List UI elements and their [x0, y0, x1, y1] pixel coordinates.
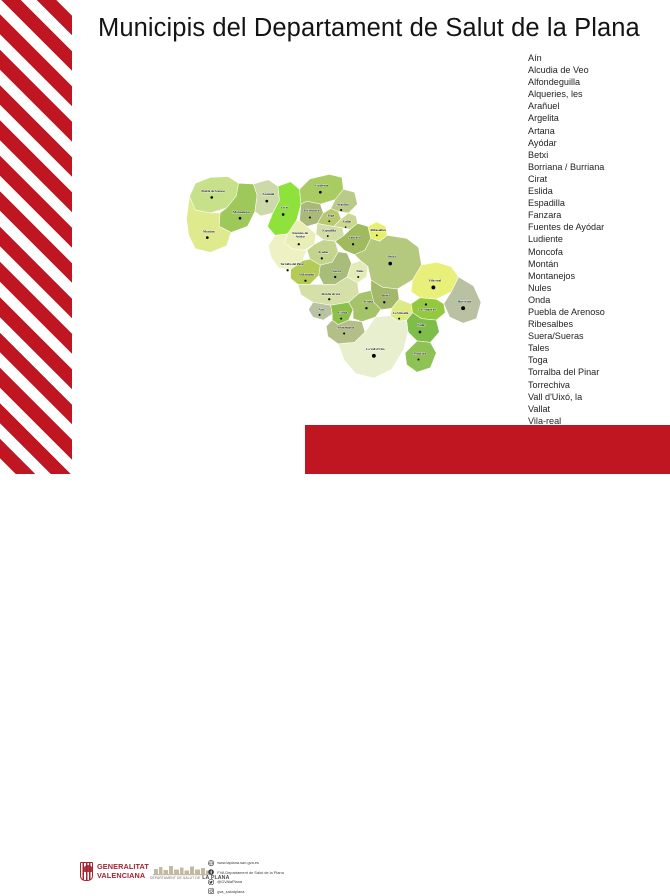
municipality-list-item: Ludiente [528, 233, 666, 245]
map-label: Espadilla [322, 229, 336, 233]
municipality-list-item: Puebla de Arenoso [528, 306, 666, 318]
map-container: Puebla de ArenosoMontanejosMontánArañuel… [96, 100, 506, 390]
map-label: Vila-real [429, 278, 442, 282]
map-city-dot [206, 236, 209, 239]
municipality-list-item: Montán [528, 258, 666, 270]
map-city-dot [309, 216, 311, 218]
map-city-dot [239, 217, 242, 220]
map-city-dot [419, 331, 422, 334]
map-city-dot [365, 307, 367, 309]
map-city-dot [210, 196, 213, 199]
map-label: Les Alqueries [419, 307, 437, 311]
map-label: Onda [388, 255, 396, 259]
map-label: Fanzara [348, 235, 360, 239]
map-label: Ludiente [315, 183, 329, 187]
social-link-text: @GVAlaPlana [217, 879, 242, 884]
map-city-dot [345, 226, 347, 228]
map-label: Torralba del Pinar [280, 262, 304, 266]
globe-icon [208, 860, 214, 866]
map-label: Suera [332, 269, 341, 273]
map-label: Tales [356, 269, 364, 273]
municipality-list-item: Alqueries, les [528, 88, 666, 100]
generalitat-valenciana-logo: GENERALITAT VALENCIANA [80, 862, 149, 881]
social-link-row[interactable]: gva_saludplana [208, 887, 284, 896]
generalitat-logo-line2: VALENCIANA [97, 872, 149, 880]
map-label: Villamalur [299, 272, 315, 276]
generalitat-logo-text: GENERALITAT VALENCIANA [97, 863, 149, 880]
map-city-dot [425, 303, 427, 305]
map-city-dot [319, 191, 322, 194]
decorative-stripe-band [0, 0, 72, 474]
municipality-list-item: Betxi [528, 149, 666, 161]
social-link-text: FVA Departament de Salut de la Plana [217, 870, 284, 875]
social-link-text: gva_saludplana [217, 889, 244, 894]
map-label: Betxi [382, 293, 390, 297]
map-city-dot [298, 243, 300, 245]
page-title: Municipis del Departament de Salut de la… [98, 14, 658, 43]
map-city-dot [328, 220, 330, 222]
municipality-list-item: Ayódar [528, 137, 666, 149]
social-link-row[interactable]: @GVAlaPlana [208, 877, 284, 887]
map-city-dot [304, 280, 306, 282]
map-city-dot [357, 276, 359, 278]
slide-canvas: Municipis del Departament de Salut de la… [0, 0, 670, 474]
social-links: www.laplana.san.gva.esFVA Departament de… [208, 858, 284, 896]
map-city-dot [287, 269, 289, 271]
map-label: La Vilavella [393, 311, 409, 315]
map-label: Toga [327, 214, 334, 218]
map-label: Puebla de Arenoso [201, 189, 225, 193]
social-link-row[interactable]: FVA Departament de Salut de la Plana [208, 868, 284, 878]
map-city-dot [334, 276, 336, 278]
map-city-dot [321, 257, 323, 259]
map-label: Ribesalbes [371, 228, 387, 232]
map-city-dot [461, 306, 465, 310]
municipality-list: AínAlcudia de VeoAlfondeguillaAlqueries,… [528, 52, 666, 451]
social-link-text: www.laplana.san.gva.es [217, 860, 259, 865]
map-city-dot [340, 318, 342, 320]
map-city-dot [388, 262, 392, 266]
map-label: Arañuel [262, 192, 274, 196]
map-label: Artana [363, 299, 374, 303]
municipality-list-item: Nules [528, 282, 666, 294]
map-city-dot [383, 301, 385, 303]
map-label: Eslida [338, 310, 347, 314]
map-label: Moncofa [414, 351, 427, 355]
facebook-icon [208, 869, 214, 875]
map-label: Vallat [343, 220, 352, 224]
map-city-dot [343, 332, 345, 334]
municipality-list-item: Argelita [528, 112, 666, 124]
map-city-dot [431, 285, 435, 289]
map-label: La Vall d'Uixó [366, 347, 385, 351]
municipality-list-item: Moncofa [528, 246, 666, 258]
twitter-icon [208, 879, 214, 885]
municipality-list-item: Tales [528, 342, 666, 354]
municipality-list-item: Vallat [528, 403, 666, 415]
map-city-dot [265, 200, 268, 203]
la-plana-logo: DEPARTAMENT DE SALUT DE LA PLANA [150, 863, 212, 881]
municipality-list-item: Cirat [528, 173, 666, 185]
map-city-dot [327, 235, 329, 237]
social-link-row[interactable]: www.laplana.san.gva.es [208, 858, 284, 868]
municipality-list-item: Aín [528, 52, 666, 64]
map-label: Nules [417, 323, 426, 327]
map-region-moncofa[interactable] [405, 341, 436, 372]
municipality-list-item: Vall d'Uixó, la [528, 391, 666, 403]
map-label: Montán [203, 229, 215, 233]
footer: GENERALITAT VALENCIANA DEPARTAMENT DE SA… [0, 425, 670, 474]
map-city-dot [340, 209, 342, 211]
municipality-list-item: Arañuel [528, 100, 666, 112]
municipality-list-item: Eslida [528, 185, 666, 197]
municipality-list-item: Ribesalbes [528, 318, 666, 330]
municipality-list-item: Torrechiva [528, 379, 666, 391]
instagram-icon [208, 888, 214, 894]
map-label: Argelita [337, 203, 349, 207]
map-city-dot [328, 298, 330, 300]
map-label: Alcudia de Veo [321, 292, 340, 296]
map-city-dot [319, 314, 321, 316]
municipality-list-item: Montanejos [528, 270, 666, 282]
municipality-list-item: Fuentes de Ayódar [528, 221, 666, 233]
municipality-list-item: Onda [528, 294, 666, 306]
map-svg: Puebla de ArenosoMontanejosMontánArañuel… [96, 100, 506, 390]
map-city-dot [372, 354, 376, 358]
map-label: Cirat [281, 206, 290, 210]
municipality-list-item: Alcudia de Veo [528, 64, 666, 76]
map-city-dot [352, 243, 354, 245]
municipality-list-item: Suera/Sueras [528, 330, 666, 342]
map-city-dot [376, 234, 378, 236]
municipality-list-item: Toga [528, 354, 666, 366]
generalitat-shield-icon [80, 862, 93, 881]
map-label: Torrechiva [303, 209, 319, 213]
municipality-list-item: Torralba del Pinar [528, 366, 666, 378]
municipality-list-item: Fanzara [528, 209, 666, 221]
municipality-list-item: Artana [528, 125, 666, 137]
map-label-second-line: Ayódar [296, 235, 306, 239]
generalitat-logo-line1: GENERALITAT [97, 863, 149, 871]
map-label: Alfondeguilla [337, 325, 355, 329]
la-plana-caption-small: DEPARTAMENT DE SALUT DE [150, 876, 200, 881]
map-label: Montanejos [233, 210, 251, 214]
map-city-dot [398, 318, 400, 320]
map-city-dot [282, 213, 285, 216]
map-city-dot [417, 358, 419, 360]
municipality-list-item: Espadilla [528, 197, 666, 209]
map-label: Aín [318, 307, 323, 311]
map-label: Burriana [458, 299, 472, 303]
municipality-list-item: Alfondeguilla [528, 76, 666, 88]
map-label: Ayódar [318, 250, 329, 254]
municipality-list-item: Borriana / Burriana [528, 161, 666, 173]
